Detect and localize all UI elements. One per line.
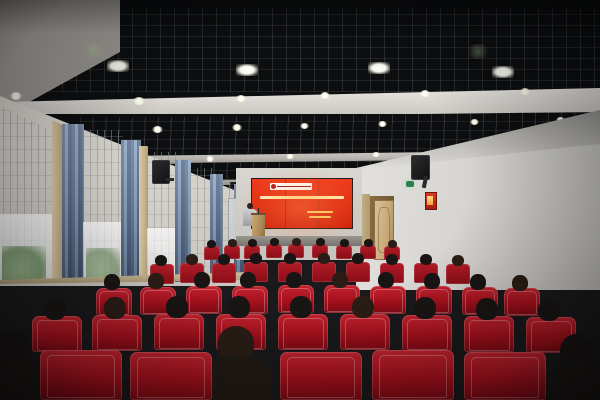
seat-row-a	[40, 350, 122, 400]
downlight-soffit-6	[520, 88, 530, 95]
attendee-head	[250, 253, 262, 264]
attendee-head	[286, 272, 302, 288]
attendee-head	[512, 275, 528, 291]
attendee-head	[228, 239, 237, 247]
downlight-soffit-4	[320, 92, 330, 99]
attendee-head	[207, 240, 216, 248]
attendee-head	[290, 296, 312, 318]
attendee-head	[332, 272, 348, 288]
attendee-head	[194, 272, 210, 288]
attendee-head	[186, 254, 198, 265]
wooden-lectern	[252, 214, 265, 236]
attendee-head	[424, 273, 440, 289]
lectern-microphone	[258, 208, 259, 214]
seat-row-a	[280, 352, 362, 400]
downlight-far-2	[286, 154, 294, 159]
downlight-mid-3	[300, 123, 309, 129]
attendee-head	[155, 255, 167, 266]
downlight-soffit-1	[10, 92, 22, 100]
emergency-exit-sign	[406, 181, 414, 187]
ceiling-light-4	[492, 66, 514, 78]
seat-row-a	[372, 350, 454, 400]
attendee-head	[352, 296, 374, 318]
attendee-head	[340, 239, 349, 247]
lens-flare-right	[466, 44, 490, 59]
downlight-mid-4	[378, 121, 387, 127]
attendee-head	[364, 239, 373, 247]
attendee-head	[386, 254, 398, 265]
fire-alarm-box-indicator	[427, 196, 433, 205]
lens-flare-left	[80, 42, 106, 58]
attendee-head	[148, 273, 164, 289]
downlight-far-3	[372, 152, 380, 157]
attendee-head	[452, 255, 464, 266]
ceiling-light-1	[107, 60, 129, 72]
downlight-soffit-5	[420, 90, 430, 97]
attendee-head	[166, 296, 188, 318]
attendee-head	[228, 296, 250, 318]
downlight-soffit-3	[236, 95, 246, 102]
seat-row-a	[130, 352, 212, 400]
attendee-head	[352, 253, 364, 264]
attendee-head	[292, 238, 301, 246]
downlight-mid-2	[232, 124, 242, 131]
downlight-mid-1	[152, 126, 163, 133]
ceiling-light-2	[236, 64, 258, 76]
downlight-soffit-2	[133, 97, 145, 105]
audience-row-a	[0, 330, 600, 400]
attendee-head	[378, 272, 394, 288]
attendee-head	[420, 254, 432, 265]
attendee-head	[388, 240, 397, 248]
attendee-head	[538, 299, 560, 321]
attendee-head	[316, 238, 325, 246]
downlight-mid-5	[470, 119, 479, 125]
curtain-1	[62, 124, 84, 282]
attendee-head	[240, 272, 256, 288]
attendee-head	[414, 297, 436, 319]
seat-row-a	[464, 352, 546, 400]
attendee-head	[318, 253, 330, 264]
foliage-outside-1	[2, 246, 46, 280]
downlight-far-1	[206, 156, 214, 162]
auditorium-photo	[0, 0, 600, 400]
wall-speaker-left-bracket	[166, 178, 174, 181]
attendee-head	[470, 274, 486, 290]
attendee-head	[218, 254, 230, 265]
attendee-head	[104, 274, 120, 290]
attendee-head	[44, 298, 66, 320]
attendee-head	[284, 253, 296, 264]
ceiling-light-3	[368, 62, 390, 74]
attendee-head	[270, 238, 279, 246]
attendee-head	[104, 297, 126, 319]
attendee-shoulders	[546, 362, 600, 400]
attendee-head	[476, 298, 498, 320]
curtain-2	[121, 140, 141, 282]
attendee-head	[248, 239, 257, 247]
